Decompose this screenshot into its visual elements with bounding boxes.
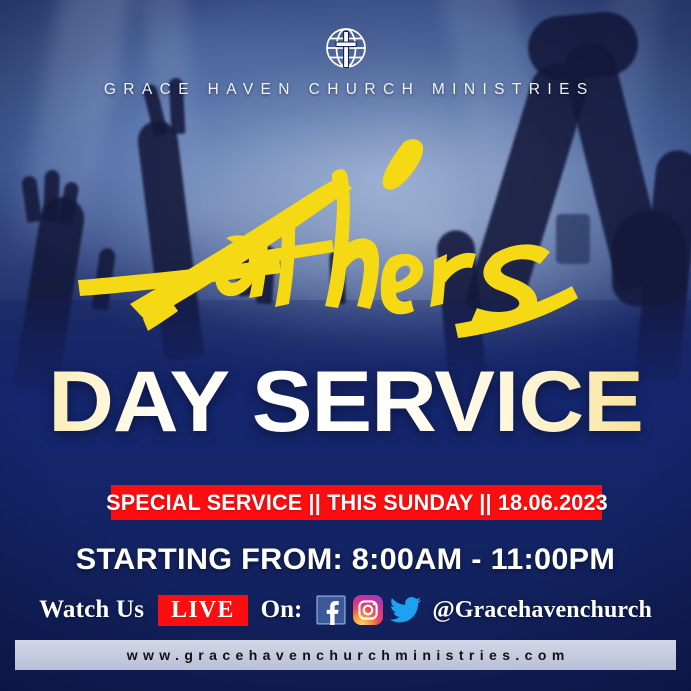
website-url: www.gracehavenchurchministries.com	[121, 647, 569, 663]
twitter-icon[interactable]	[390, 595, 422, 625]
day-service-title: DAY SERVICE	[0, 352, 691, 452]
special-service-banner: SPECIAL SERVICE || THIS SUNDAY || 18.06.…	[111, 485, 602, 520]
fathers-day-service-flyer: GRACE HAVEN CHURCH MINISTRIES Fathers	[0, 0, 691, 691]
instagram-icon[interactable]	[353, 595, 383, 625]
social-handle: @Gracehavenchurch	[432, 597, 652, 624]
special-service-banner-text: SPECIAL SERVICE || THIS SUNDAY || 18.06.…	[106, 490, 608, 516]
website-url-bar: www.gracehavenchurchministries.com	[15, 640, 676, 670]
watch-live-row: Watch Us LIVE On:	[0, 592, 691, 628]
live-badge: LIVE	[158, 595, 248, 626]
watch-us-label: Watch Us	[39, 596, 144, 624]
church-name: GRACE HAVEN CHURCH MINISTRIES	[0, 81, 691, 99]
social-icons	[316, 595, 422, 625]
fathers-script-headline: Fathers	[0, 128, 691, 338]
apostrophe-stroke	[383, 139, 423, 190]
church-logo	[0, 22, 691, 79]
globe-cross-logo-icon	[320, 22, 372, 74]
facebook-icon[interactable]	[316, 595, 346, 625]
fathers-brush-script: Fathers	[0, 128, 691, 338]
starting-time-line: STARTING FROM: 8:00AM - 11:00PM	[0, 543, 691, 577]
on-label: On:	[261, 596, 303, 624]
